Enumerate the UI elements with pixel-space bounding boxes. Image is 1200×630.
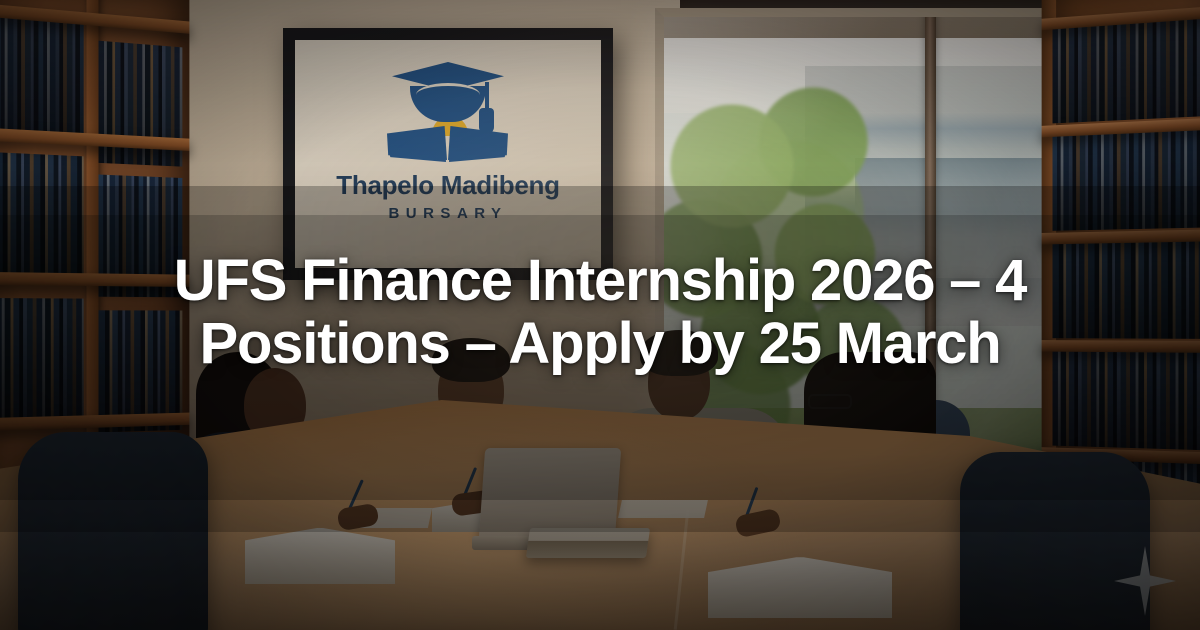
- poster-brand-subtitle: BURSARY: [388, 205, 507, 222]
- book-spines: [0, 16, 84, 132]
- note-paper: [618, 500, 708, 518]
- hero-banner: Thapelo Madibeng BURSARY: [0, 0, 1200, 630]
- poster-brand-name: Thapelo Madibeng: [336, 172, 559, 198]
- framed-bursary-poster: Thapelo Madibeng BURSARY: [283, 28, 613, 280]
- laptop-screen: [479, 448, 621, 540]
- graduation-cap-sunrise-book-icon: [384, 56, 512, 166]
- window-blind: [655, 8, 1085, 38]
- office-chair-right: [960, 452, 1150, 630]
- office-chair-left: [18, 432, 208, 630]
- book-spines: [1052, 127, 1200, 231]
- stacked-books: [526, 528, 650, 558]
- tassel-icon: [479, 108, 494, 134]
- book-spines: [1052, 15, 1200, 123]
- banner-headline: UFS Finance Internship 2026 – 4 Position…: [60, 250, 1140, 376]
